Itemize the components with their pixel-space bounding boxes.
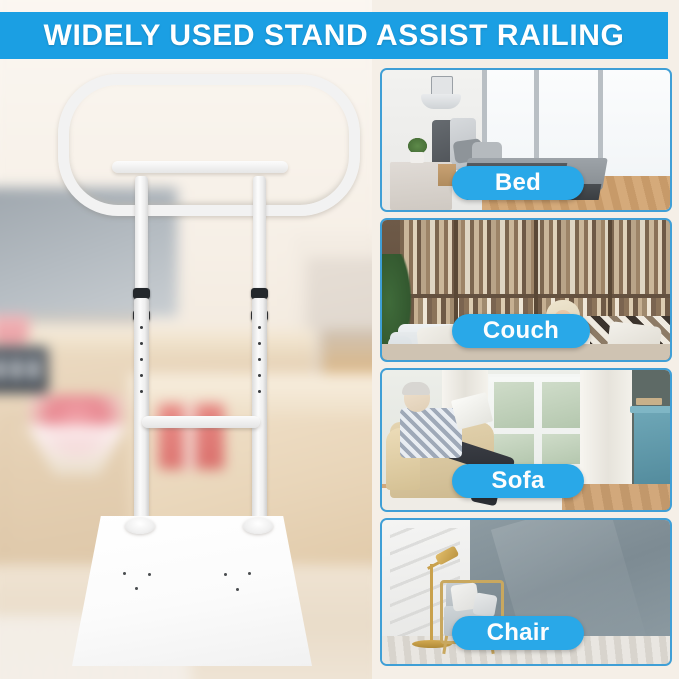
pendant-lamp: [421, 94, 461, 109]
panel-label-chair-text: Chair: [487, 619, 550, 647]
railing-handle-crossbar: [112, 161, 288, 173]
man-body: [400, 408, 462, 458]
railing-lower-tube-left: [134, 298, 149, 530]
headline-text: WIDELY USED STAND ASSIST RAILING: [44, 19, 625, 53]
headline-banner: WIDELY USED STAND ASSIST RAILING: [0, 12, 668, 59]
hero-product-image: [0, 0, 372, 679]
railing-handle-loop: [58, 74, 360, 216]
railing-base-plate: [72, 516, 312, 666]
product-infographic: WIDELY USED STAND ASSIST RAILING: [0, 0, 679, 679]
panel-label-couch: Couch: [452, 314, 590, 348]
railing-lower-crossbar: [142, 416, 260, 428]
panel-label-sofa-text: Sofa: [491, 467, 544, 495]
panel-label-bed-text: Bed: [495, 169, 541, 197]
railing-lower-tube-right: [252, 298, 267, 530]
panel-label-bed: Bed: [452, 166, 584, 200]
panel-label-sofa: Sofa: [452, 464, 584, 498]
use-case-panel-couch[interactable]: Couch: [380, 218, 672, 362]
panel-label-chair: Chair: [452, 616, 584, 650]
use-case-panel-sofa[interactable]: Sofa: [380, 368, 672, 512]
use-case-panel-chair[interactable]: Chair: [380, 518, 672, 666]
panel-label-couch-text: Couch: [483, 317, 559, 345]
base-flange-right: [243, 518, 273, 534]
base-flange-left: [125, 518, 155, 534]
stand-assist-railing: [0, 0, 372, 679]
use-case-panel-bed[interactable]: Bed: [380, 68, 672, 212]
